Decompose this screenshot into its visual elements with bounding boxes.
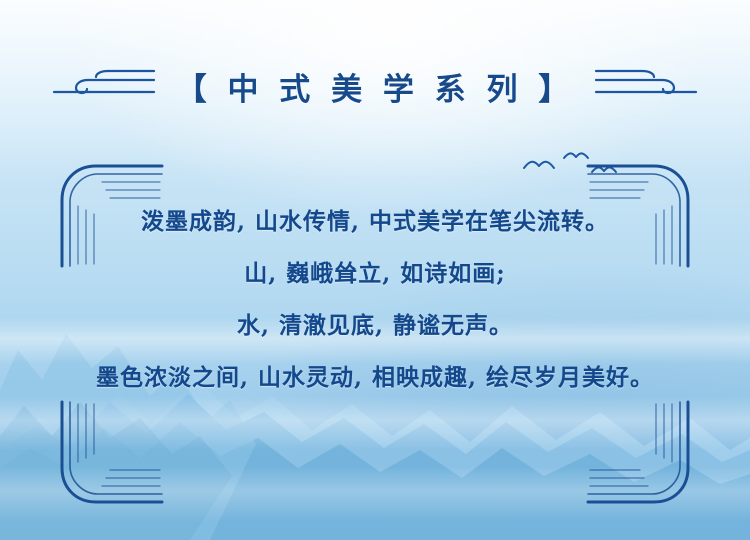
mist-band-lower [0, 396, 750, 450]
corner-bottom-right-icon [584, 398, 694, 513]
corner-bottom-left-icon [56, 398, 166, 513]
poster-canvas: 【 中 式 美 学 系 列 】 [0, 0, 750, 540]
poem-line-4: 墨色浓淡之间, 山水灵动, 相映成趣, 绘尽岁月美好。 [0, 352, 750, 404]
cloud-line-ornament-right-icon [588, 62, 700, 111]
poem-line-1: 泼墨成韵, 山水传情, 中式美学在笔尖流转。 [0, 196, 750, 248]
cloud-line-ornament-left-icon [50, 62, 162, 111]
flying-birds-icon [520, 150, 630, 191]
poem-line-2: 山, 巍峨耸立, 如诗如画; [0, 248, 750, 300]
mist-band-bottom [0, 466, 750, 522]
title-row: 【 中 式 美 学 系 列 】 [0, 62, 750, 111]
poem-block: 泼墨成韵, 山水传情, 中式美学在笔尖流转。 山, 巍峨耸立, 如诗如画; 水,… [0, 196, 750, 404]
poem-line-3: 水, 清澈见底, 静谧无声。 [0, 300, 750, 352]
page-title: 【 中 式 美 学 系 列 】 [176, 64, 575, 109]
